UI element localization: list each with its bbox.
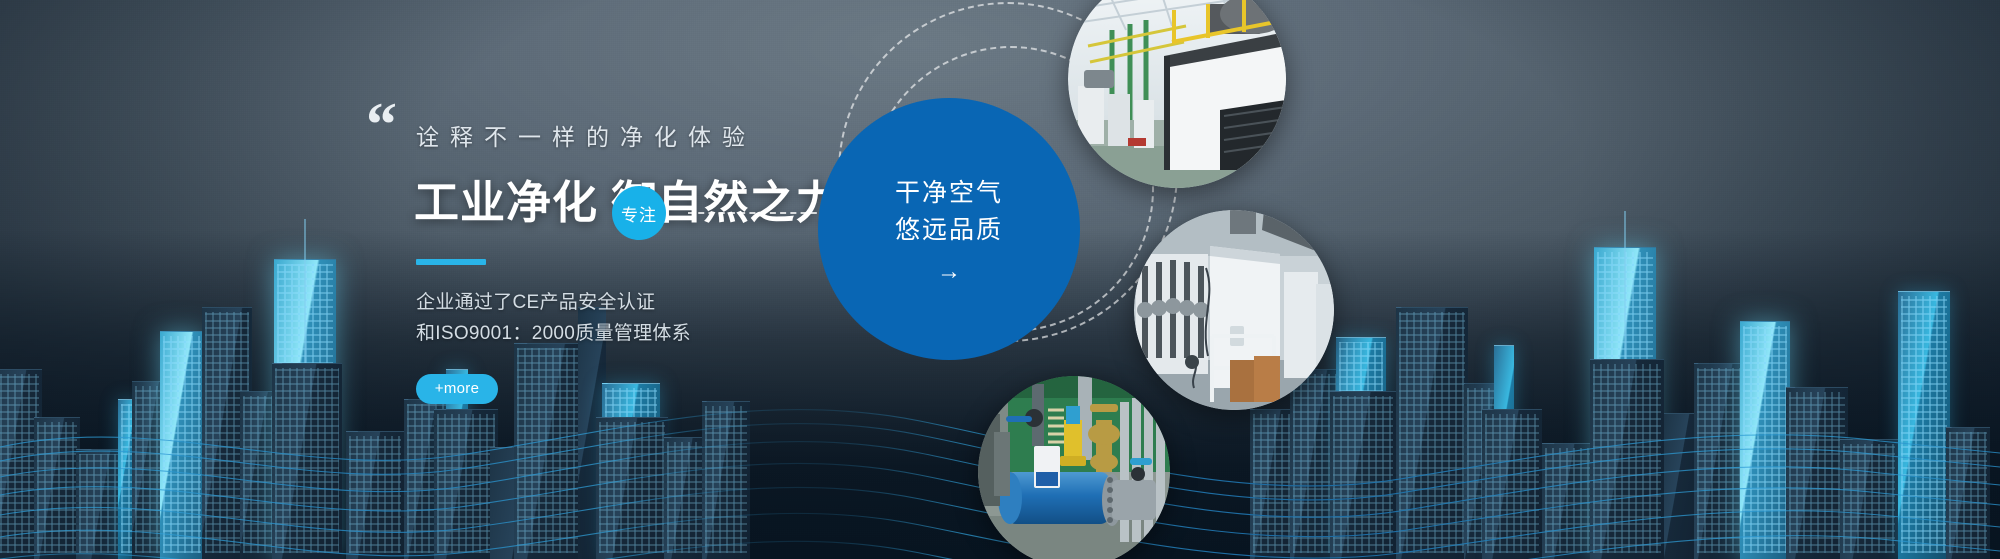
photo-pressure-vessel-image bbox=[978, 376, 1170, 559]
arrow-right-icon: → bbox=[937, 260, 961, 284]
accent-divider bbox=[416, 259, 486, 265]
photo-pressure-vessel[interactable] bbox=[978, 376, 1170, 559]
focus-badge[interactable]: 专注 bbox=[612, 186, 666, 240]
slogan-line-2: 悠远品质 bbox=[895, 212, 1003, 250]
hero-banner: “ 诠释不一样的净化体验 工业净化 御自然之力 企业通过了CE产品安全认证 和I… bbox=[0, 0, 2000, 559]
quote-mark-icon: “ bbox=[366, 94, 395, 156]
photo-textile-machinery-image bbox=[1134, 210, 1334, 410]
graphic-cluster: 专注 干净空气 悠远品质 → bbox=[780, 0, 1480, 559]
photo-textile-machinery[interactable] bbox=[1134, 210, 1334, 410]
more-button[interactable]: +more bbox=[416, 374, 498, 404]
hero-slogan-circle[interactable]: 干净空气 悠远品质 → bbox=[818, 98, 1080, 360]
focus-badge-label: 专注 bbox=[621, 201, 657, 226]
slogan-line-1: 干净空气 bbox=[895, 175, 1003, 213]
